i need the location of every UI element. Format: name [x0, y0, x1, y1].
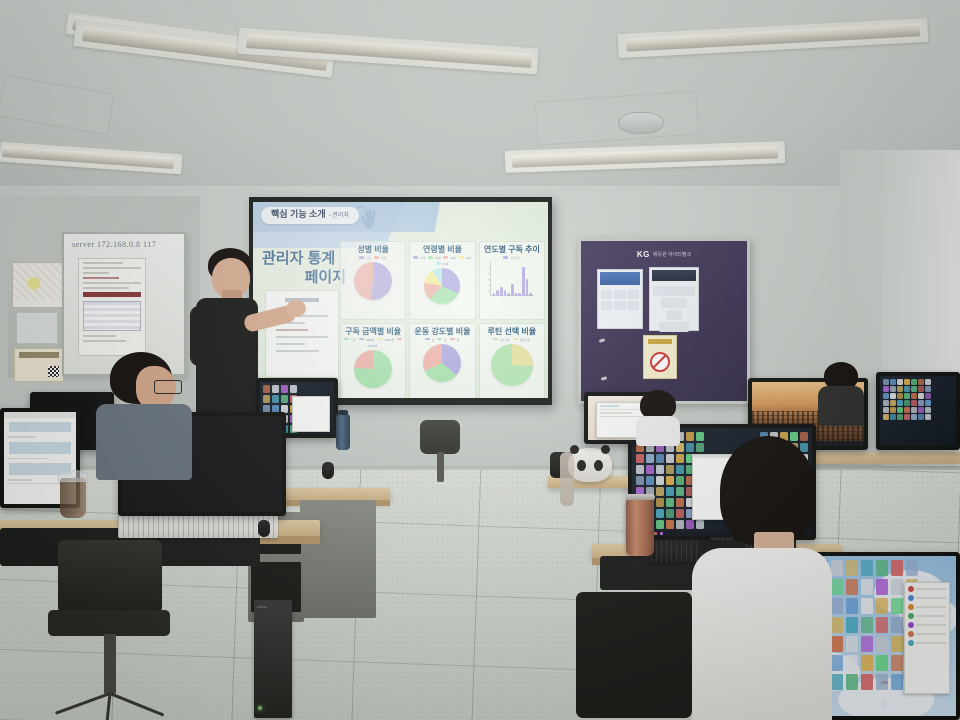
hygiene-poster	[597, 269, 643, 329]
desktop-icon[interactable]	[846, 598, 858, 614]
water-bottle	[336, 414, 350, 450]
desktop-icon[interactable]	[831, 636, 843, 652]
mouse[interactable]	[258, 520, 270, 537]
desktop-icon[interactable]	[876, 655, 888, 671]
desktop-icon[interactable]	[911, 379, 917, 385]
desktop-icon[interactable]	[861, 560, 873, 576]
board-pin	[599, 338, 606, 343]
bottle-cap	[338, 410, 348, 415]
panda-backpack	[568, 448, 612, 482]
bar	[504, 290, 507, 296]
desktop-icon[interactable]	[897, 407, 903, 413]
desktop-icon[interactable]	[846, 655, 858, 671]
monitor-brand: · · ·	[198, 512, 206, 517]
desktop-icon[interactable]	[904, 407, 910, 413]
card-legend: 10대 20대 30대 40대 50대	[412, 256, 472, 266]
desktop-icon[interactable]	[636, 465, 644, 474]
desktop-icon[interactable]	[846, 636, 858, 652]
desktop-icon[interactable]	[290, 385, 297, 393]
chair-front-left[interactable]	[44, 540, 174, 720]
student-foreground	[692, 436, 832, 720]
pc-tower	[254, 600, 292, 718]
hair	[720, 436, 816, 546]
desktop-icon[interactable]	[846, 674, 858, 690]
desktop-icon[interactable]	[831, 617, 843, 633]
desktop-icon[interactable]	[883, 400, 889, 406]
slide-header-pill: 핵심 기능 소개 - 관리자	[261, 207, 359, 224]
desktop-icon[interactable]	[876, 674, 888, 690]
desktop-icon[interactable]	[831, 560, 843, 576]
torso	[692, 548, 832, 720]
desktop-icon-grid[interactable]	[883, 379, 931, 420]
desktop-icon[interactable]	[263, 385, 270, 393]
kg-logo-text: 에듀원 아이티뱅크	[653, 251, 691, 258]
poster-title-bar	[19, 352, 59, 358]
desktop-icon[interactable]	[831, 598, 843, 614]
bar	[529, 293, 532, 296]
desktop-icon[interactable]	[846, 617, 858, 633]
desktop-icon[interactable]	[876, 598, 888, 614]
desktop-icon[interactable]	[656, 487, 664, 496]
desktop-icon[interactable]	[925, 393, 931, 399]
desktop-icon[interactable]	[883, 393, 889, 399]
desktop-icon[interactable]	[676, 476, 684, 485]
desktop-icon[interactable]	[676, 509, 684, 518]
stats-card: 성별 비율 남성 여성	[340, 241, 406, 320]
desktop-icon[interactable]	[272, 385, 279, 393]
screen	[880, 376, 956, 446]
desktop-icon[interactable]	[890, 386, 896, 392]
desktop-icon[interactable]	[891, 636, 903, 652]
desktop-icon[interactable]	[861, 617, 873, 633]
safety-poster	[649, 267, 699, 331]
desktop-icon[interactable]	[911, 400, 917, 406]
glasses-icon	[154, 380, 182, 394]
desktop-icon[interactable]	[891, 579, 903, 595]
desktop-icon[interactable]	[897, 393, 903, 399]
desktop-icon[interactable]	[925, 379, 931, 385]
mouse[interactable]	[322, 462, 334, 479]
slide-header-sub: - 관리자	[329, 210, 349, 219]
desktop-icon[interactable]	[636, 476, 644, 485]
stats-card: 운동 강도별 비율 상 중 하	[409, 323, 475, 399]
ceiling-speaker-icon	[618, 112, 664, 134]
desktop-icon[interactable]	[646, 476, 654, 485]
poster-heading	[652, 270, 696, 281]
torso	[818, 386, 864, 426]
desktop-icon[interactable]	[904, 414, 910, 420]
desktop-icon[interactable]	[890, 400, 896, 406]
desktop-icon[interactable]	[904, 400, 910, 406]
noticeboard: KG 에듀원 아이티뱅크	[578, 238, 750, 404]
desktop-icon[interactable]	[904, 379, 910, 385]
desktop-icon[interactable]	[666, 465, 674, 474]
pie-chart	[354, 262, 392, 300]
desktop-icon[interactable]	[656, 509, 664, 518]
desktop-icon[interactable]	[846, 560, 858, 576]
desktop-icon[interactable]	[861, 579, 873, 595]
bar	[515, 293, 518, 296]
stats-card: 루틴 선택 비율 기본 루틴 맞춤 루틴	[479, 323, 545, 399]
card-title: 루틴 선택 비율	[488, 326, 537, 337]
near-arm	[190, 306, 208, 366]
evacuation-map-poster	[12, 262, 66, 308]
desktop-icon[interactable]	[918, 400, 924, 406]
desktop-icon[interactable]	[676, 487, 684, 496]
desktop-icon[interactable]	[906, 560, 918, 576]
slide-header-main: 핵심 기능 소개	[271, 207, 326, 220]
card-legend: 무료 9900원 19900원 29900원	[343, 338, 403, 348]
poster-heading	[600, 272, 640, 285]
desktop-icon[interactable]	[925, 407, 931, 413]
no-food-poster	[643, 335, 677, 379]
desktop-icon[interactable]	[918, 414, 924, 420]
pointing-hand	[286, 300, 306, 317]
poster-icon-grid	[598, 287, 642, 313]
pie-chart	[424, 268, 460, 304]
desktop-icon[interactable]	[281, 385, 288, 393]
card-legend: 구독 건수	[503, 256, 521, 260]
desktop-icon[interactable]	[676, 454, 684, 463]
open-window[interactable]	[292, 396, 330, 432]
bar	[526, 279, 529, 296]
bar	[496, 290, 499, 296]
desktop-icon[interactable]	[911, 414, 917, 420]
bar	[500, 287, 503, 296]
desktop-icon[interactable]	[676, 465, 684, 474]
desktop-icon[interactable]	[656, 465, 664, 474]
desktop-icon[interactable]	[897, 400, 903, 406]
pie-chart	[354, 350, 392, 388]
desktop-icon[interactable]	[656, 454, 664, 463]
desktop-icon[interactable]	[883, 407, 889, 413]
student-far-right	[818, 362, 864, 424]
desktop-icon[interactable]	[272, 395, 279, 403]
card-title: 성별 비율	[357, 244, 389, 255]
desktop-icon[interactable]	[890, 407, 896, 413]
bar	[511, 284, 514, 296]
stats-card: 연도별 구독 추이 구독 건수	[479, 241, 545, 320]
desktop-icon[interactable]	[831, 579, 843, 595]
desktop-icon[interactable]	[925, 386, 931, 392]
desktop-icon[interactable]	[925, 400, 931, 406]
desktop-icon[interactable]	[666, 487, 674, 496]
desktop-icon[interactable]	[666, 498, 674, 507]
desktop-icon[interactable]	[891, 598, 903, 614]
desktop-icon[interactable]	[831, 655, 843, 671]
bar	[522, 267, 525, 296]
pie-chart	[423, 344, 461, 382]
keyboard[interactable]	[118, 516, 278, 538]
desktop-icon[interactable]	[666, 454, 674, 463]
desktop-icon[interactable]	[904, 386, 910, 392]
kg-logo: KG 에듀원 아이티뱅크	[637, 250, 691, 259]
tumbler-lid	[625, 494, 655, 500]
bar-chart	[490, 262, 534, 296]
chair-foreground[interactable]	[556, 592, 706, 720]
stats-card-grid: 성별 비율 남성 여성 연령별 비율 10대 20대 30대 40대 50대	[337, 238, 548, 398]
card-title: 연령별 비율	[423, 244, 462, 255]
desktop-icon[interactable]	[636, 454, 644, 463]
desktop-icon[interactable]	[666, 476, 674, 485]
desktop-icon[interactable]	[883, 386, 889, 392]
iced-coffee-cup	[60, 478, 86, 518]
chair-back[interactable]	[420, 420, 460, 490]
desktop-icon[interactable]	[891, 617, 903, 633]
poster-body	[650, 283, 698, 337]
hanging-ornament	[560, 452, 574, 506]
desk-cabinet	[300, 500, 376, 618]
desktop-icon[interactable]	[918, 386, 924, 392]
qr-code-icon	[48, 366, 59, 377]
poster-map-body	[13, 263, 65, 300]
desktop-icon[interactable]	[911, 393, 917, 399]
desktop-icon[interactable]	[281, 395, 288, 403]
desktop-icon[interactable]	[911, 407, 917, 413]
blank-notice	[16, 312, 58, 344]
student-mid-right	[636, 390, 680, 440]
mat-logo: · · ·	[234, 557, 252, 563]
poster-caption	[648, 339, 672, 344]
desktop-icon[interactable]	[861, 674, 873, 690]
pie-chart	[491, 344, 533, 386]
card-title: 연도별 구독 추이	[484, 244, 540, 255]
desktop-icon[interactable]	[890, 414, 896, 420]
desktop-icon[interactable]	[876, 617, 888, 633]
desktop-icon[interactable]	[911, 386, 917, 392]
card-legend: 상 중 하	[425, 338, 460, 342]
prohibition-icon	[650, 352, 670, 372]
card-legend: 남성 여성	[359, 256, 387, 260]
desktop-icon[interactable]	[883, 379, 889, 385]
stats-card: 연령별 비율 10대 20대 30대 40대 50대	[409, 241, 475, 320]
cup-dome-lid	[58, 470, 88, 482]
desktop-icon[interactable]	[656, 520, 664, 529]
desktop-icon[interactable]	[876, 636, 888, 652]
qr-notice-poster	[14, 348, 64, 382]
stats-card: 구독 금액별 비율 무료 9900원 19900원 29900원	[340, 323, 406, 399]
desktop-icon[interactable]	[666, 509, 674, 518]
desktop-icon[interactable]	[876, 579, 888, 595]
card-title: 구독 금액별 비율	[345, 326, 401, 337]
desktop-icon[interactable]	[897, 414, 903, 420]
bar	[518, 293, 521, 296]
desktop-icon[interactable]	[918, 407, 924, 413]
desktop-icon[interactable]	[656, 498, 664, 507]
desktop-icon[interactable]	[897, 386, 903, 392]
desktop-icon[interactable]	[861, 636, 873, 652]
desktop-icon[interactable]	[676, 520, 684, 529]
card-legend: 기본 루틴 맞춤 루틴	[493, 338, 532, 342]
card-title: 운동 강도별 비율	[415, 326, 471, 337]
desktop-icon[interactable]	[263, 395, 270, 403]
notification-panel[interactable]	[904, 582, 950, 694]
desktop-icon[interactable]	[918, 393, 924, 399]
desktop-icon[interactable]	[846, 579, 858, 595]
desktop-icon[interactable]	[918, 379, 924, 385]
whiteboard-posted-sheet	[78, 258, 146, 356]
bar	[507, 293, 510, 296]
desktop-icon[interactable]	[646, 454, 654, 463]
desktop-icon[interactable]	[676, 498, 684, 507]
torso	[636, 416, 680, 446]
desktop-icon[interactable]	[897, 379, 903, 385]
desktop-icon[interactable]	[925, 414, 931, 420]
desktop-icon[interactable]	[891, 674, 903, 690]
classroom-photo: server 172.168.0.8 117 핵심 기능 소개 - 관리자	[0, 0, 960, 720]
desktop-icon[interactable]	[891, 560, 903, 576]
desktop-icon[interactable]	[890, 379, 896, 385]
desktop-icon[interactable]	[891, 655, 903, 671]
desktop-icon[interactable]	[861, 598, 873, 614]
desktop-icon[interactable]	[876, 560, 888, 576]
copper-tumbler	[626, 498, 654, 556]
desktop-icon[interactable]	[656, 476, 664, 485]
desktop-icon[interactable]	[883, 414, 889, 420]
desktop-icon[interactable]	[831, 674, 843, 690]
monitor-back-far-right	[876, 372, 960, 450]
desktop-icon[interactable]	[890, 393, 896, 399]
kg-logo-mark: KG	[637, 250, 650, 259]
desktop-icon[interactable]	[646, 465, 654, 474]
whiteboard-handwriting: server 172.168.0.8 117	[72, 240, 176, 252]
desktop-icon[interactable]	[861, 655, 873, 671]
torso	[96, 404, 192, 480]
student-front-left	[96, 352, 192, 472]
board-pin	[601, 376, 608, 381]
desktop-icon[interactable]	[904, 393, 910, 399]
desktop-icon[interactable]	[666, 520, 674, 529]
